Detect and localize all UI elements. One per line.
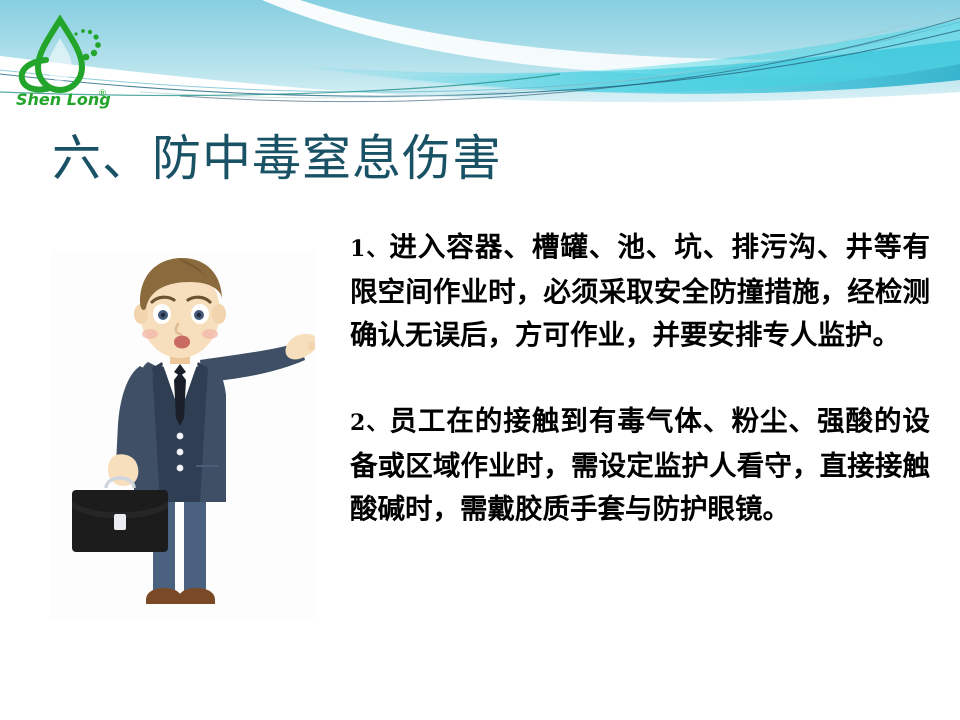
paragraph-1-text: 进入容器、槽罐、池、坑、排污沟、井等有限空间作业时，必须采取安全防撞措施，经检测… (350, 231, 930, 351)
slide-body-text: 1、进入容器、槽罐、池、坑、排污沟、井等有限空间作业时，必须采取安全防撞措施，经… (350, 226, 930, 531)
header-banner (0, 0, 960, 120)
slide-title: 六、防中毒窒息伤害 (52, 130, 502, 188)
businessman-illustration (50, 250, 315, 620)
paragraph-2: 2、员工在的接触到有毒气体、粉尘、强酸的设备或区域作业时，需设定监护人看守，直接… (350, 400, 930, 531)
registered-mark-icon: ® (98, 89, 107, 99)
paragraph-1: 1、进入容器、槽罐、池、坑、排污沟、井等有限空间作业时，必须采取安全防撞措施，经… (350, 226, 930, 357)
paragraph-1-marker: 1、 (350, 236, 389, 262)
logo-brand-text: Shen Long (16, 90, 111, 109)
paragraph-2-marker: 2、 (350, 410, 389, 436)
company-logo: Shen Long ® (12, 12, 122, 110)
paragraph-2-text: 员工在的接触到有毒气体、粉尘、强酸的设备或区域作业时，需设定监护人看守，直接接触… (350, 405, 930, 525)
presentation-slide: Shen Long ® 六、防中毒窒息伤害 (0, 0, 960, 720)
